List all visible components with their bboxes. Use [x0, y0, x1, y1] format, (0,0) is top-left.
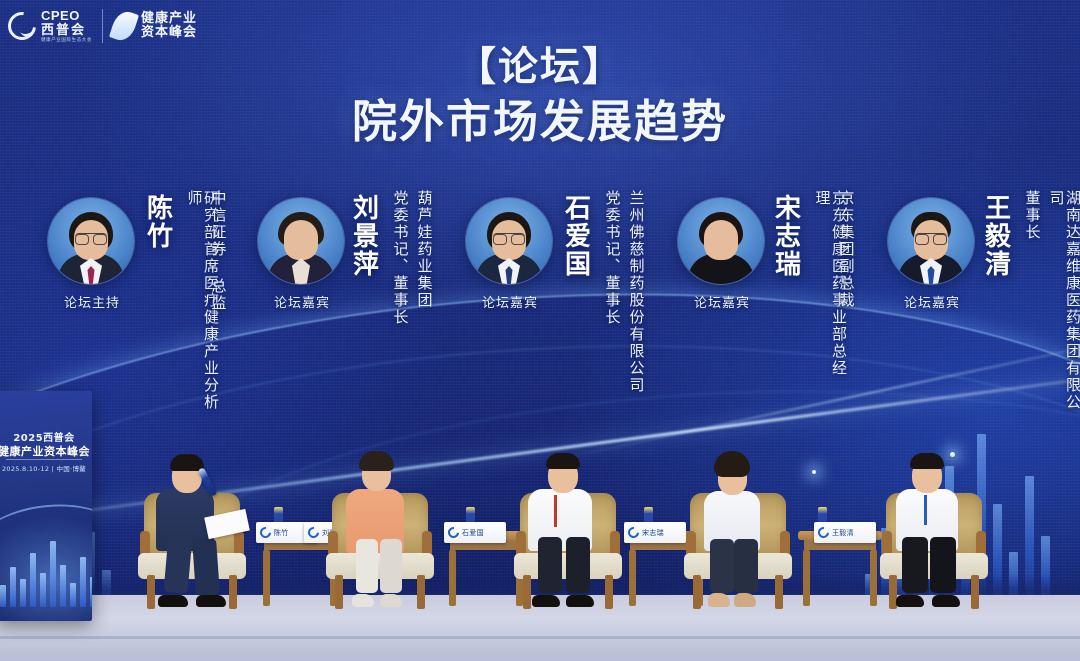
cpeo-circle-icon [2, 6, 41, 45]
panelist-5-title-col2: 董事长 [1024, 190, 1041, 250]
banner-line2: 健康产业资本峰会 [0, 443, 92, 459]
panelist-1-title-col1: 中信证券 总监 [210, 190, 227, 340]
panelist-card-4: 论坛嘉宾 宋志瑞 京东健康医药事业部总经理 京东集团副总裁 [678, 186, 870, 436]
seat-2 [322, 409, 452, 609]
lanyard [554, 495, 557, 527]
panelist-card-5: 论坛嘉宾 王毅清 董事长 湖南达嘉维康医药集团有限公司 [888, 186, 1080, 436]
seat-5 [868, 409, 1008, 609]
nameplate-logo-icon [258, 525, 273, 540]
seat-1 [132, 409, 262, 609]
cpeo-logo-cn: 西普会 [41, 24, 92, 37]
panelist-card-2: 论坛嘉宾 刘景萍 党委书记、董事长 葫芦娃药业集团 [258, 186, 443, 436]
panelist-1-portrait [48, 198, 134, 284]
leaf-icon [109, 8, 139, 43]
nameplate-logo-icon [446, 525, 461, 540]
panelist-3-name: 石爱国 [562, 194, 589, 286]
panelist-1-role: 论坛主持 [44, 292, 140, 311]
panelist-1-name: 陈竹 [144, 194, 171, 258]
panelist-2-title-col2: 党委书记、董事长 [392, 190, 409, 330]
panelist-3-portrait [466, 198, 552, 284]
banner-chart-bars [0, 541, 92, 607]
panelist-4-role: 论坛嘉宾 [674, 292, 770, 311]
nameplate-4-text: 宋志瑞 [642, 528, 664, 538]
panelist-2-name: 刘景萍 [350, 194, 377, 286]
panelist-3-title-col1: 兰州佛慈制药股份有限公司 [628, 190, 645, 395]
forum-title-block: 【论坛】 院外市场发展趋势 [0, 44, 1080, 148]
nameplate-4: 宋志瑞 [624, 522, 686, 543]
banner-line1: 2025西普会 [0, 429, 92, 444]
panelist-5-role: 论坛嘉宾 [884, 292, 980, 311]
summit-logo: 健康产业 资本峰会 [113, 11, 197, 41]
cpeo-logo-en: CPEO [41, 9, 92, 22]
stage-floor-edge [0, 636, 1080, 639]
nameplate-logo-icon [306, 525, 321, 540]
forum-title-line1: 【论坛】 [0, 44, 1080, 91]
panelist-cards: 论坛主持 陈竹 研究部首席医疗健康产业分析师 中信证券 总监 论坛嘉宾 刘景萍 … [0, 186, 1080, 436]
nameplate-logo-icon [816, 525, 831, 540]
panelist-5-title-col1: 湖南达嘉维康医药集团有限公司 [1048, 190, 1080, 425]
event-logos: CPEO 西普会 健康产业国际生态大会 健康产业 资本峰会 [8, 4, 197, 48]
rollup-banner: 2025西普会 健康产业资本峰会 2025.8.10-12 | 中国·博鳌 [0, 391, 92, 621]
panelist-2-role: 论坛嘉宾 [254, 292, 350, 311]
panelist-5-name: 王毅清 [982, 194, 1009, 286]
panelist-4-portrait [678, 198, 764, 284]
conference-stage: CPEO 西普会 健康产业国际生态大会 健康产业 资本峰会 【论坛】 院外市场发… [0, 0, 1080, 661]
summit-logo-line1: 健康产业 [141, 12, 197, 26]
logo-divider [102, 9, 103, 43]
glow-dot-center [812, 470, 816, 474]
nameplate-logo-icon [626, 525, 641, 540]
panelist-4-title-col1: 京东集团副总裁 [838, 190, 855, 315]
panelist-3-title-col2: 党委书记、董事长 [604, 190, 621, 330]
nameplate-5: 王毅清 [814, 522, 876, 543]
nameplate-3-text: 石爱国 [462, 528, 484, 538]
seat-3 [508, 409, 638, 609]
panelist-3-role: 论坛嘉宾 [462, 292, 558, 311]
banner-divider [6, 459, 82, 460]
panelist-4-name: 宋志瑞 [772, 194, 799, 286]
panelist-2-title-col1: 葫芦娃药业集团 [416, 190, 433, 315]
summit-logo-line2: 资本峰会 [141, 26, 197, 40]
cpeo-logo: CPEO 西普会 健康产业国际生态大会 [8, 9, 92, 44]
forum-title-line2: 院外市场发展趋势 [0, 95, 1080, 148]
panelist-5-portrait [888, 198, 974, 284]
lanyard [924, 495, 927, 525]
nameplate-1-text: 陈竹 [274, 528, 289, 538]
seat-4 [678, 409, 808, 609]
nameplate-5-text: 王毅清 [832, 528, 854, 538]
cpeo-logo-sub: 健康产业国际生态大会 [41, 39, 92, 44]
nameplate-3: 石爱国 [444, 522, 506, 543]
panelist-2-portrait [258, 198, 344, 284]
banner-line3: 2025.8.10-12 | 中国·博鳌 [0, 463, 92, 473]
panelist-card-3: 论坛嘉宾 石爱国 党委书记、董事长 兰州佛慈制药股份有限公司 [466, 186, 661, 436]
